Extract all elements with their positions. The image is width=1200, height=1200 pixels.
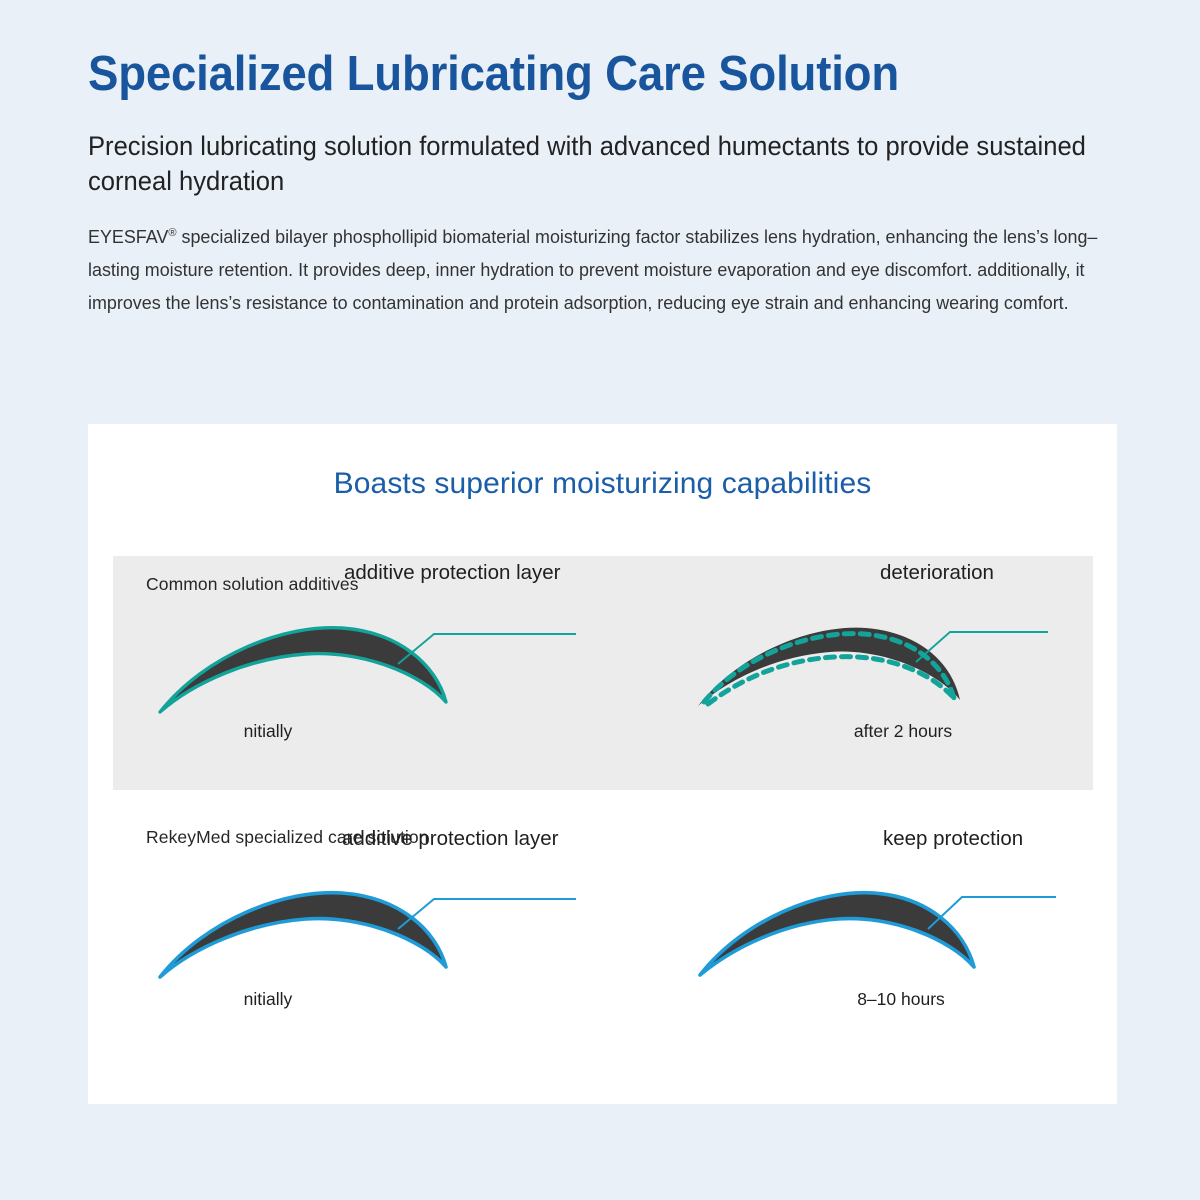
lens-crescent-shape <box>160 893 446 977</box>
lens-caption-initially: nitially <box>173 989 363 1010</box>
card-heading: Boasts superior moisturizing capabilitie… <box>88 424 1117 501</box>
body-copy: specialized bilayer phosphollipid biomat… <box>88 226 1097 313</box>
lens-crescent-shape <box>700 893 974 975</box>
panel-common-solution-additives: Common solution additives additive prote… <box>113 556 1093 790</box>
lens-row: additive protection layer nitially deter… <box>113 556 1093 790</box>
panel-rekeymed-care-solution: RekeyMed specialized care solution addit… <box>113 819 1093 1069</box>
callout-leader-line <box>398 899 576 929</box>
callout-label-additive-protection-layer: additive protection layer <box>342 827 559 851</box>
page-subtitle: Precision lubricating solution formulate… <box>88 129 1113 199</box>
comparison-card: Boasts superior moisturizing capabilitie… <box>88 424 1117 1104</box>
lens-crescent-shape <box>698 628 960 706</box>
callout-label-additive-protection-layer: additive protection layer <box>344 561 561 585</box>
lens-cell-initial-common: additive protection layer nitially <box>146 556 646 790</box>
lens-cell-initial-rekeymed: additive protection layer nitially <box>146 819 646 1069</box>
page-title: Specialized Lubricating Care Solution <box>88 48 1078 101</box>
lens-cell-after-2-hours: deterioration after 2 hours <box>688 556 1088 790</box>
callout-leader-line <box>398 634 576 664</box>
page-header: Specialized Lubricating Care Solution Pr… <box>88 48 1153 320</box>
lens-row: additive protection layer nitially keep … <box>113 819 1093 1069</box>
lens-caption-after-2-hours: after 2 hours <box>808 721 998 742</box>
lens-crescent-shape <box>160 628 446 712</box>
callout-label-keep-protection: keep protection <box>883 827 1023 851</box>
page-body-paragraph: EYESFAV® specialized bilayer phosphollip… <box>88 221 1127 320</box>
brand-name: EYESFAV <box>88 226 168 247</box>
callout-label-deterioration: deterioration <box>880 561 994 585</box>
lens-caption-8-10-hours: 8–10 hours <box>806 989 996 1010</box>
lens-caption-initially: nitially <box>173 721 363 742</box>
lens-cell-8-10-hours: keep protection 8–10 hours <box>688 819 1088 1069</box>
